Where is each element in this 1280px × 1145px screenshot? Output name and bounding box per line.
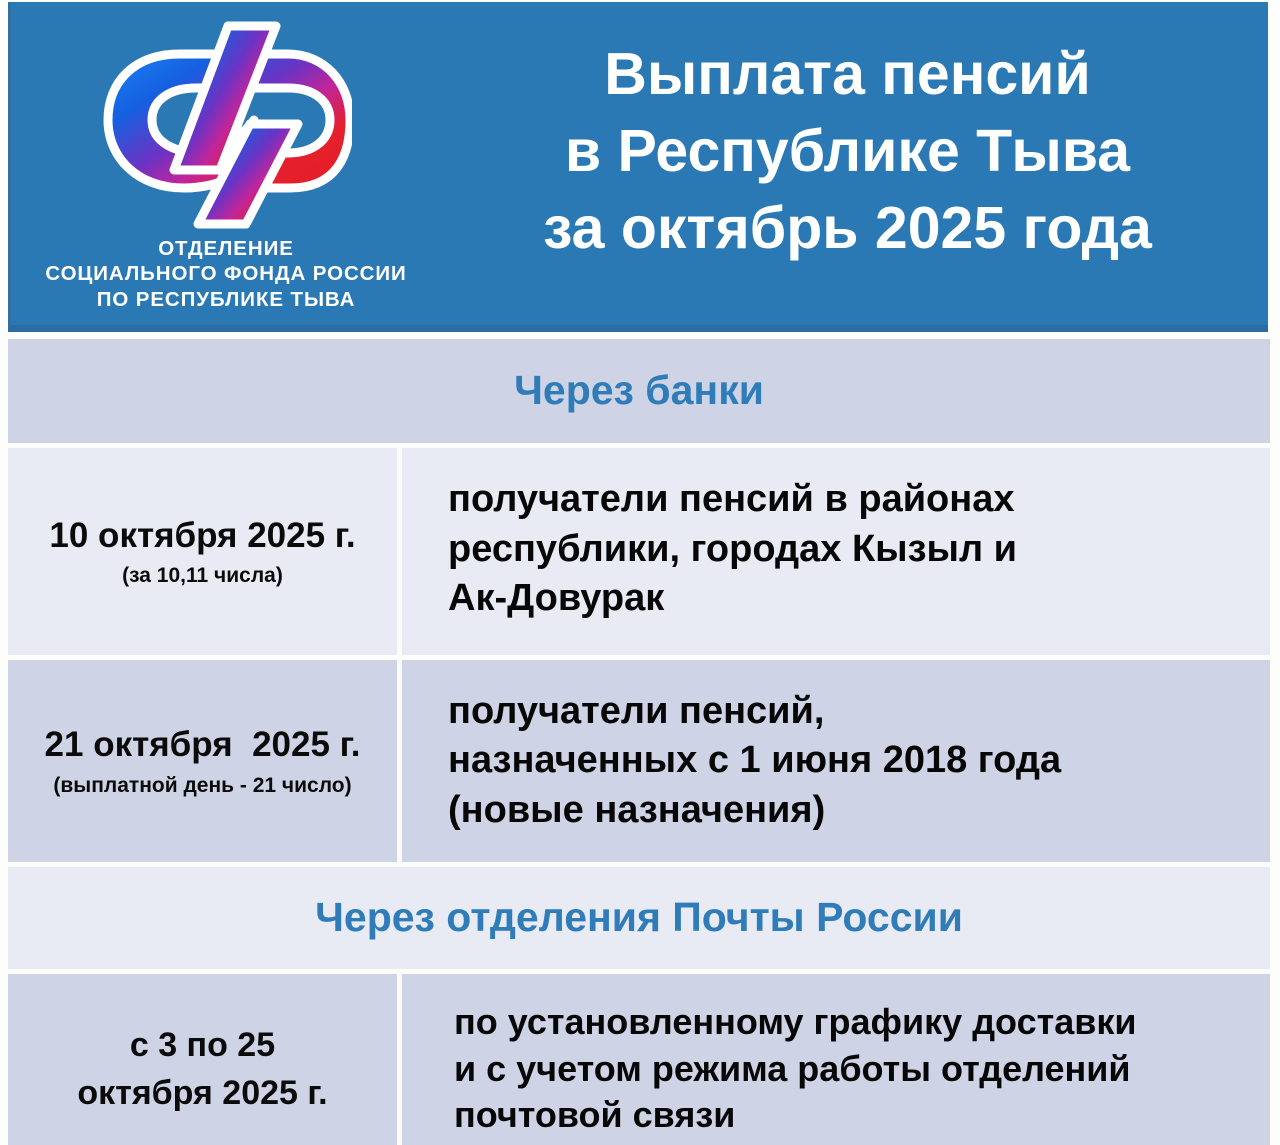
page-title: Выплата пенсий в Республике Тыва за октя… (543, 36, 1152, 266)
organization-caption-line-3: ПО РЕСПУБЛИКЕ ТЫВА (45, 287, 406, 312)
row-date-note: (выплатной день - 21 число) (53, 773, 351, 798)
row-description-line: республики, городах Кызыл и (448, 525, 1254, 574)
organization-caption-line-2: СОЦИАЛЬНОГО ФОНДА РОССИИ (45, 261, 406, 286)
row-date-main: 10 октября 2025 г. (49, 515, 355, 556)
organization-caption: ОТДЕЛЕНИЕ СОЦИАЛЬНОГО ФОНДА РОССИИ ПО РЕ… (45, 236, 406, 312)
row-date-note: (за 10,11 числа) (122, 563, 283, 588)
section-title-banks: Через банки (514, 368, 764, 413)
row-description-line: назначенных с 1 июня 2018 года (448, 736, 1254, 785)
row-description-line: получатели пенсий, (448, 687, 1254, 736)
poster-title-block: Выплата пенсий в Республике Тыва за октя… (441, 2, 1268, 325)
organization-caption-line-1: ОТДЕЛЕНИЕ (45, 236, 406, 261)
row-description-line: получатели пенсий в районах (448, 475, 1254, 524)
row-date-main: с 3 по 25 октября 2025 г. (77, 1021, 327, 1118)
payment-schedule-table: Через банки 10 октября 2025 г. (за 10,11… (8, 339, 1270, 1145)
row-date-cell: 21 октября 2025 г. (выплатной день - 21 … (8, 660, 402, 862)
row-date-cell: с 3 по 25 октября 2025 г. (8, 974, 402, 1145)
page-title-line-2: в Республике Тыва (543, 113, 1152, 190)
section-title-post: Через отделения Почты России (315, 895, 963, 940)
row-description-cell: получатели пенсий в районах республики, … (402, 448, 1270, 655)
poster-header: ОТДЕЛЕНИЕ СОЦИАЛЬНОГО ФОНДА РОССИИ ПО РЕ… (8, 2, 1268, 332)
row-description-line: и с учетом режима работы отделений (454, 1046, 1254, 1093)
organization-logo-block: ОТДЕЛЕНИЕ СОЦИАЛЬНОГО ФОНДА РОССИИ ПО РЕ… (11, 2, 441, 325)
row-date-cell: 10 октября 2025 г. (за 10,11 числа) (8, 448, 402, 655)
row-description-cell: получатели пенсий, назначенных с 1 июня … (402, 660, 1270, 862)
table-row: 21 октября 2025 г. (выплатной день - 21 … (8, 660, 1270, 862)
row-description-line: по установленному графику доставки (454, 999, 1254, 1046)
pension-payment-schedule-poster: ОТДЕЛЕНИЕ СОЦИАЛЬНОГО ФОНДА РОССИИ ПО РЕ… (0, 0, 1280, 1145)
row-description-cell: по установленному графику доставки и с у… (402, 974, 1270, 1145)
table-row: 10 октября 2025 г. (за 10,11 числа) полу… (8, 448, 1270, 655)
page-title-line-3: за октябрь 2025 года (543, 190, 1152, 267)
row-description-line: (новые назначения) (448, 786, 1254, 835)
page-title-line-1: Выплата пенсий (543, 36, 1152, 113)
row-date-main: 21 октября 2025 г. (45, 724, 361, 765)
section-header-post: Через отделения Почты России (8, 867, 1270, 969)
row-description-line: почтовой связи (454, 1092, 1254, 1139)
sfr-monogram-logo-icon (100, 16, 352, 230)
row-description-line: Ак-Довурак (448, 574, 1254, 623)
section-header-banks: Через банки (8, 339, 1270, 443)
table-row: с 3 по 25 октября 2025 г. по установленн… (8, 974, 1270, 1145)
